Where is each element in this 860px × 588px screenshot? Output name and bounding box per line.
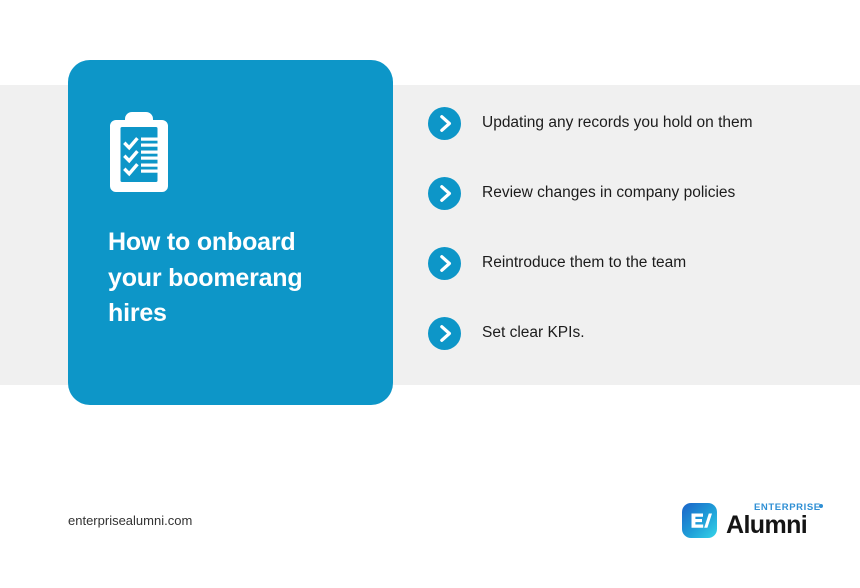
chevron-right-circle-icon [428,177,461,210]
logo-eyebrow: ENTERPRISE [754,503,821,513]
chevron-right-circle-icon [428,107,461,140]
list-item-label: Updating any records you hold on them [482,114,753,133]
benefits-list: Updating any records you hold on them Re… [428,105,838,351]
chevron-right-circle-icon [428,317,461,350]
list-item-label: Review changes in company policies [482,184,735,203]
list-item: Set clear KPIs. [428,315,838,351]
logo-wordmark: ENTERPRISE Alumni [726,503,807,538]
card-title: How to onboard your boomerang hires [108,192,353,332]
list-item: Updating any records you hold on them [428,105,838,141]
logo-dot-icon [819,504,823,508]
list-item: Reintroduce them to the team [428,245,838,281]
feature-card: How to onboard your boomerang hires [68,60,393,405]
list-item-label: Set clear KPIs. [482,324,585,343]
enterprise-alumni-logo[interactable]: ENTERPRISE Alumni [682,503,807,538]
site-url[interactable]: enterprisealumni.com [68,513,192,528]
clipboard-checklist-icon [108,108,353,192]
list-item-label: Reintroduce them to the team [482,254,686,273]
list-item: Review changes in company policies [428,175,838,211]
logo-mark-icon [682,503,717,538]
chevron-right-circle-icon [428,247,461,280]
